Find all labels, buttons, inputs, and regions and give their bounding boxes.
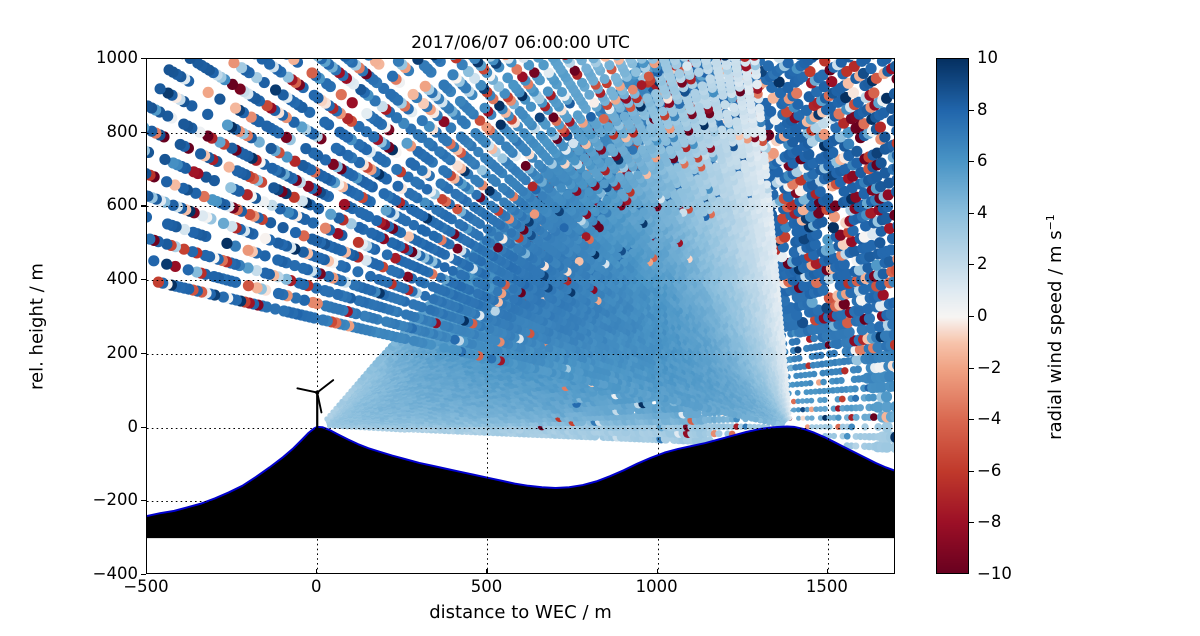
colorbar-tick-mark — [969, 419, 974, 420]
y-tick-mark — [141, 132, 146, 133]
colorbar-label-exponent: −1 — [1044, 214, 1057, 230]
y-tick-mark — [141, 574, 146, 575]
colorbar-tick-mark — [969, 368, 974, 369]
colorbar-label-text: radial wind speed / m s — [1045, 230, 1066, 439]
x-tick-label: 500 — [426, 578, 546, 596]
y-tick-mark — [141, 427, 146, 428]
plot-title: 2017/06/07 06:00:00 UTC — [146, 33, 895, 53]
y-tick-mark — [141, 353, 146, 354]
colorbar-tick-mark — [969, 110, 974, 111]
x-tick-label: 1000 — [597, 578, 717, 596]
colorbar-tick-mark — [969, 213, 974, 214]
y-tick-mark — [141, 500, 146, 501]
colorbar-tick-label: −4 — [977, 410, 1001, 428]
y-tick-label: 800 — [28, 123, 138, 141]
colorbar-tick-label: −10 — [977, 565, 1012, 583]
colorbar-tick-label: −6 — [977, 462, 1001, 480]
colorbar-tick-mark — [969, 471, 974, 472]
x-axis-label: distance to WEC / m — [146, 602, 895, 623]
colorbar-tick-label: 0 — [977, 307, 988, 325]
colorbar-tick-label: −8 — [977, 513, 1001, 531]
y-axis-label: rel. height / m — [27, 177, 48, 477]
y-tick-mark — [141, 205, 146, 206]
x-tick-mark — [316, 569, 317, 574]
y-tick-label: 1000 — [28, 49, 138, 67]
x-tick-label: 0 — [256, 578, 376, 596]
colorbar-label: radial wind speed / m s−1 — [1044, 177, 1066, 477]
colorbar-tick-label: −2 — [977, 359, 1001, 377]
colorbar-tick-label: 2 — [977, 255, 988, 273]
colorbar-tick-label: 10 — [977, 49, 998, 67]
y-tick-mark — [141, 279, 146, 280]
y-tick-label: −400 — [28, 565, 138, 583]
x-tick-label: 1500 — [767, 578, 887, 596]
colorbar-tick-label: 8 — [977, 101, 988, 119]
y-tick-mark — [141, 58, 146, 59]
colorbar-tick-label: 4 — [977, 204, 988, 222]
colorbar-tick-label: 6 — [977, 152, 988, 170]
colorbar-gradient — [937, 59, 969, 574]
y-tick-label: −200 — [28, 491, 138, 509]
colorbar-tick-mark — [969, 522, 974, 523]
colorbar-tick-mark — [969, 161, 974, 162]
main-axes[interactable] — [146, 58, 895, 574]
x-tick-mark — [486, 569, 487, 574]
figure-canvas: 2017/06/07 06:00:00 UTC −500050010001500… — [0, 0, 1200, 636]
x-tick-mark — [827, 569, 828, 574]
x-tick-mark — [146, 569, 147, 574]
x-tick-mark — [657, 569, 658, 574]
colorbar[interactable] — [936, 58, 969, 574]
colorbar-tick-mark — [969, 264, 974, 265]
scan-data-plot[interactable] — [147, 59, 895, 574]
colorbar-tick-mark — [969, 316, 974, 317]
